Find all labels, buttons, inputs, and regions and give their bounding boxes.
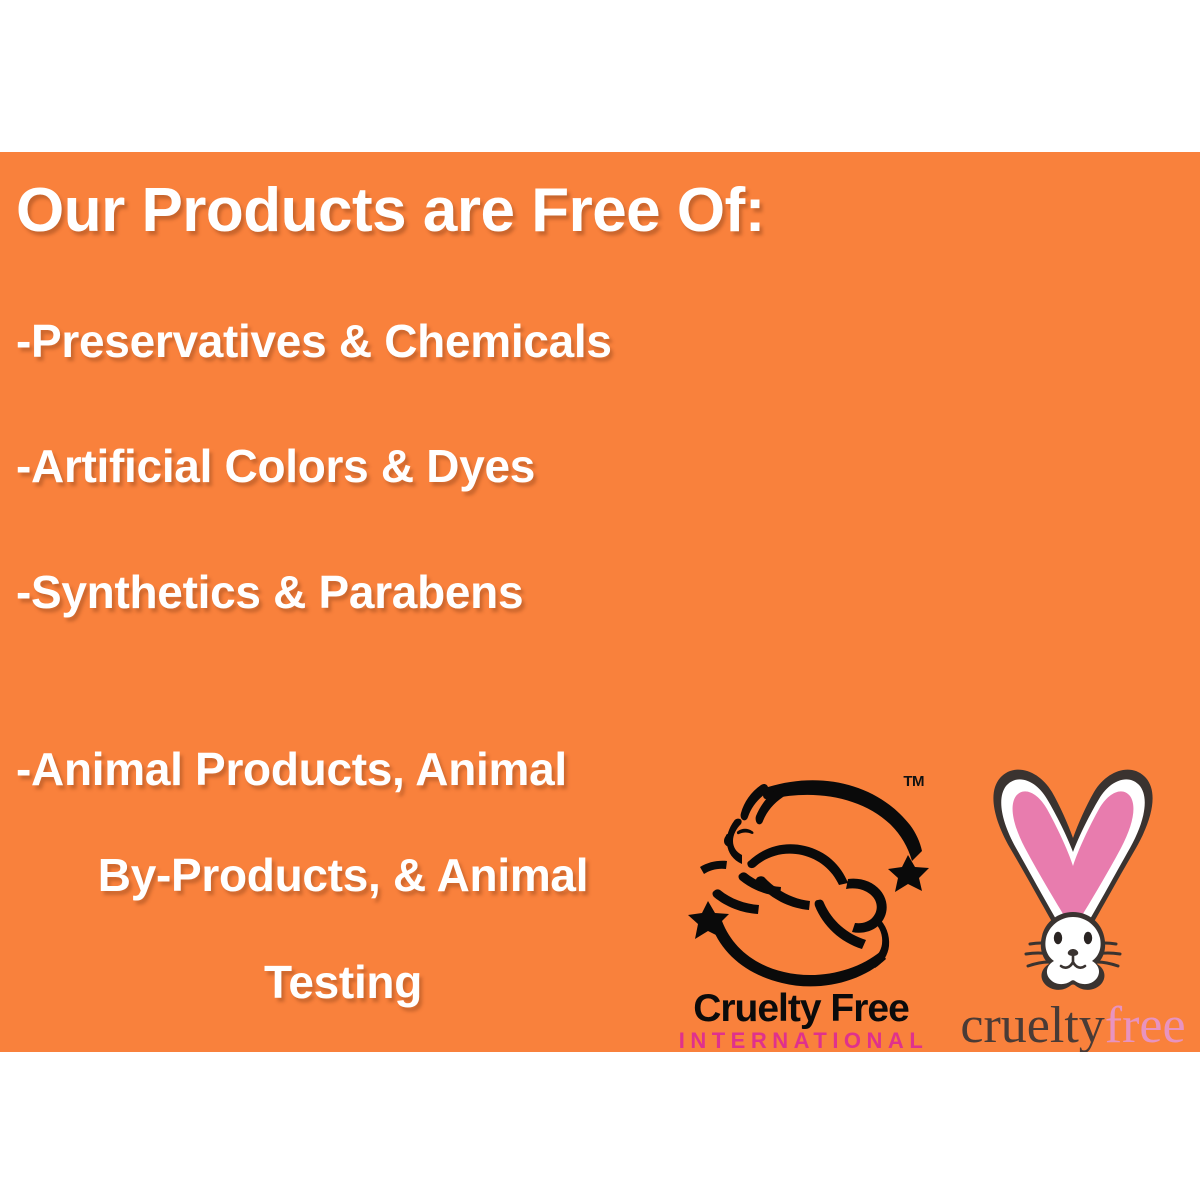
- wordmark-free: free: [1105, 997, 1186, 1052]
- free-of-list: -Preservatives & Chemicals -Artificial C…: [16, 315, 700, 1052]
- list-item-line-2: By-Products, & Animal: [16, 849, 660, 902]
- international-subtitle: INTERNATIONAL: [672, 1029, 930, 1052]
- text-column: Our Products are Free Of: -Preservatives…: [0, 152, 700, 1052]
- heart-ear-bunny-icon: [938, 762, 1200, 994]
- page-title: Our Products are Free Of:: [16, 178, 700, 243]
- cruelty-free-title: Cruelty Free: [672, 989, 930, 1028]
- list-item: -Animal Products, Animal By-Products, & …: [0, 689, 660, 1052]
- list-item: -Artificial Colors & Dyes: [16, 440, 700, 493]
- orange-panel: Our Products are Free Of: -Preservatives…: [0, 152, 1200, 1052]
- certification-logos: TM Cruelty Free INTERNATIONAL: [672, 760, 1200, 1052]
- list-item: -Preservatives & Chemicals: [16, 315, 700, 368]
- list-item: -Synthetics & Parabens: [16, 566, 700, 619]
- cruelty-free-wordmark: crueltyfree: [938, 1000, 1200, 1052]
- leaping-bunny-icon: TM: [672, 769, 930, 987]
- wordmark-cruelty: cruelty: [960, 997, 1104, 1052]
- cruelty-free-bunny-logo: crueltyfree: [938, 762, 1200, 1052]
- list-item-line-3: Testing: [16, 956, 660, 1009]
- poster-canvas: Our Products are Free Of: -Preservatives…: [0, 0, 1200, 1200]
- cruelty-free-international-logo: TM Cruelty Free INTERNATIONAL: [672, 769, 930, 1052]
- trademark-symbol: TM: [903, 773, 924, 790]
- list-item-line-1: -Animal Products, Animal: [16, 743, 660, 796]
